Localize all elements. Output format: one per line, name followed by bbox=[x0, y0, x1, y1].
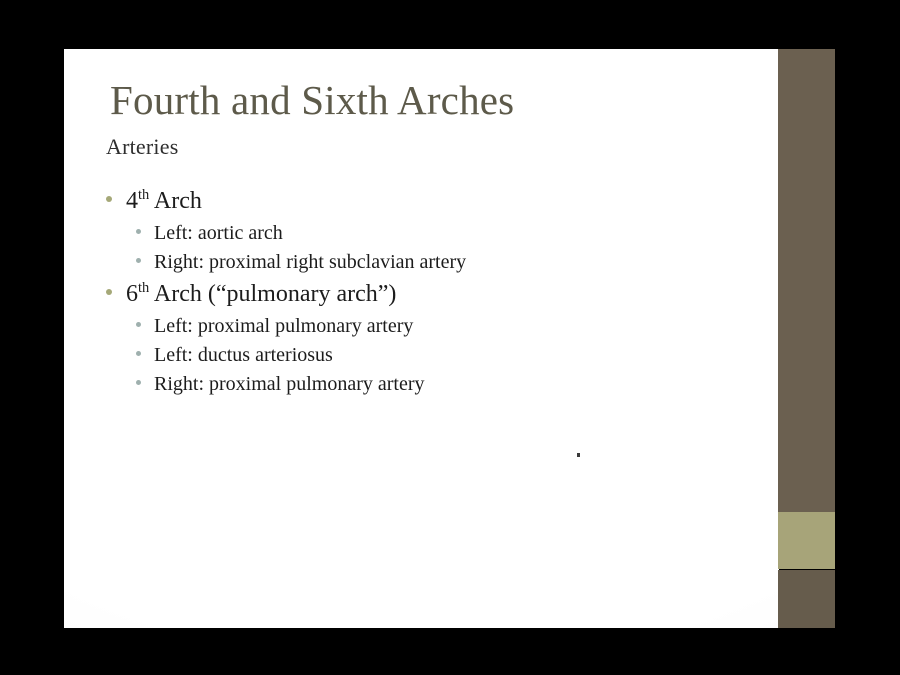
slide-body-list: 4th ArchLeft: aortic archRight: proximal… bbox=[106, 184, 766, 399]
bullet-item: Right: proximal pulmonary artery bbox=[106, 370, 766, 399]
bullet-dot-icon bbox=[136, 380, 141, 385]
bullet-label: Right: proximal pulmonary artery bbox=[154, 374, 766, 394]
bullet-label: Right: proximal right subclavian artery bbox=[154, 252, 766, 272]
decor-band-brown-top bbox=[778, 49, 835, 512]
bullet-dot-icon bbox=[106, 196, 112, 202]
bullet-label: 4th Arch bbox=[126, 189, 766, 213]
bullet-item: Left: proximal pulmonary artery bbox=[106, 312, 766, 341]
bullet-label: Left: ductus arteriosus bbox=[154, 345, 766, 365]
bullet-label: 6th Arch (“pulmonary arch”) bbox=[126, 282, 766, 306]
bullet-dot-icon bbox=[136, 229, 141, 234]
stray-speck-artifact bbox=[577, 453, 580, 457]
bullet-label: Left: aortic arch bbox=[154, 223, 766, 243]
bullet-dot-icon bbox=[136, 258, 141, 263]
bullet-item: Right: proximal right subclavian artery bbox=[106, 248, 766, 277]
decor-band-accent bbox=[778, 512, 835, 569]
bullet-item: Left: aortic arch bbox=[106, 219, 766, 248]
bullet-dot-icon bbox=[136, 322, 141, 327]
bullet-dot-icon bbox=[106, 289, 112, 295]
bullet-item: 6th Arch (“pulmonary arch”) bbox=[106, 277, 766, 312]
slide-title: Fourth and Sixth Arches bbox=[110, 79, 514, 122]
bullet-item: 4th Arch bbox=[106, 184, 766, 219]
slide-subtitle: Arteries bbox=[106, 134, 178, 160]
presentation-viewport: Fourth and Sixth Arches Arteries 4th Arc… bbox=[0, 0, 900, 675]
decor-band-brown-bottom bbox=[778, 570, 835, 628]
bullet-dot-icon bbox=[136, 351, 141, 356]
bullet-item: Left: ductus arteriosus bbox=[106, 341, 766, 370]
slide-canvas: Fourth and Sixth Arches Arteries 4th Arc… bbox=[64, 49, 779, 628]
bullet-label: Left: proximal pulmonary artery bbox=[154, 316, 766, 336]
